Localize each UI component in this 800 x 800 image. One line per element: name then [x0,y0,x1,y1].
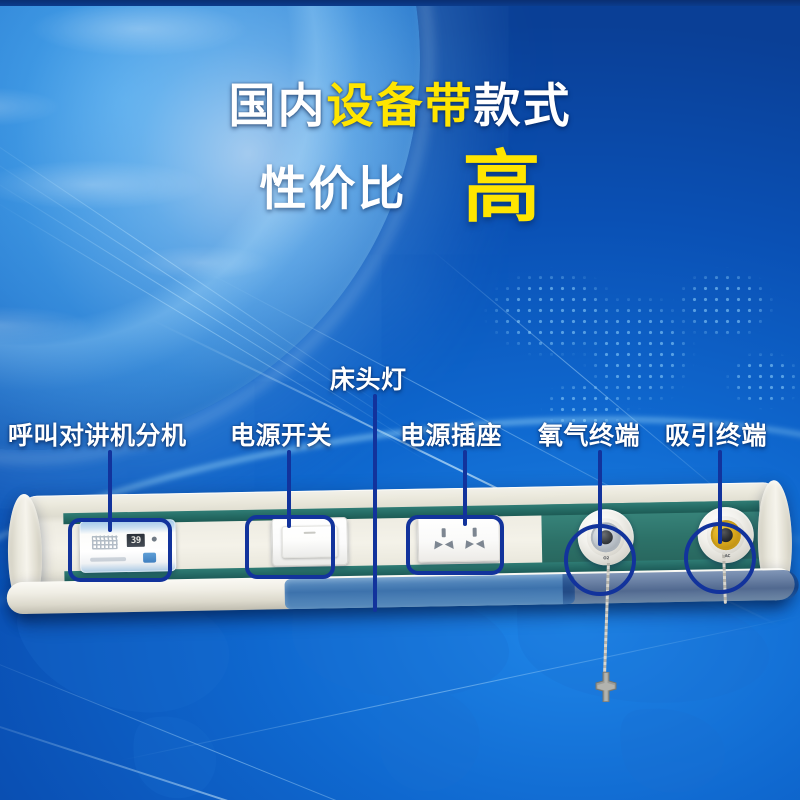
callout-label-power-switch: 电源开关 [230,416,332,452]
leader-line-oxygen-terminal [598,450,602,546]
callout-overlay: 呼叫对讲机分机 电源开关 床头灯 电源插座 氧气终端 吸引终端 [0,0,800,800]
callout-label-power-socket: 电源插座 [400,416,502,452]
callout-label-intercom: 呼叫对讲机分机 [8,416,187,452]
callout-label-oxygen-terminal: 氧气终端 [538,416,640,452]
leader-line-power-switch [287,450,291,528]
highlight-box-intercom [68,518,172,582]
leader-line-intercom [108,450,112,532]
highlight-box-power-socket [406,515,504,575]
callout-label-bed-lamp: 床头灯 [330,360,407,396]
callout-label-suction-terminal: 吸引终端 [665,416,767,452]
leader-line-bed-lamp [373,394,377,612]
leader-line-suction-terminal [718,450,722,544]
leader-line-power-socket [463,450,467,526]
